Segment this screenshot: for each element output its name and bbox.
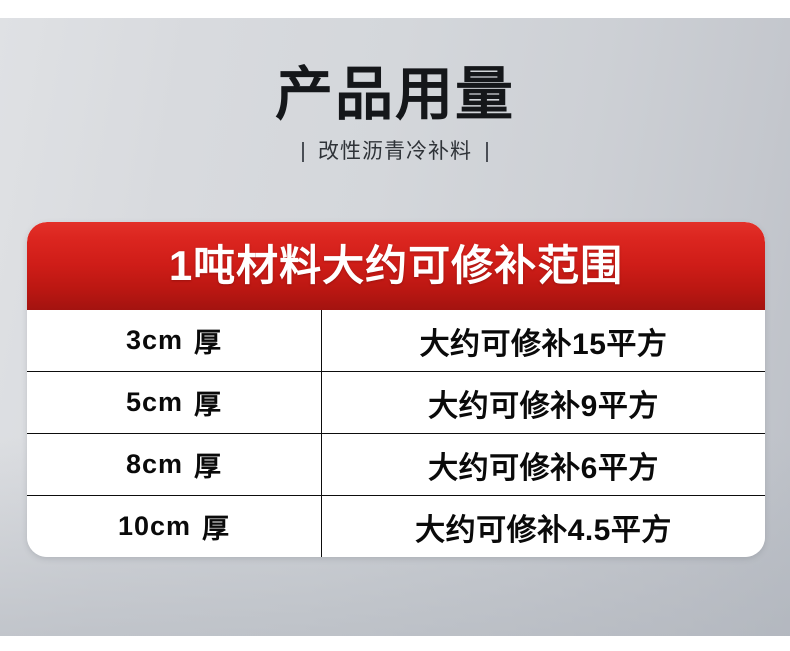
title-block: 产品用量 改性沥青冷补料 [0,62,790,164]
coverage-table: 3cm 厚 大约可修补15平方 5cm 厚 大约可修补9平方 8cm [27,310,765,557]
thickness-value: 10cm [118,511,191,542]
thickness-label: 厚 [194,445,222,484]
thickness-cell: 3cm 厚 [27,310,322,371]
coverage-cell: 大约可修补9平方 [322,372,765,433]
subtitle-row: 改性沥青冷补料 [0,140,790,164]
page-title: 产品用量 [0,62,790,128]
product-usage-infographic: 产品用量 改性沥青冷补料 1吨材料大约可修补范围 3cm 厚 大约可修补15平方 [0,0,790,651]
coverage-cell: 大约可修补4.5平方 [322,496,765,557]
thickness-cell: 8cm 厚 [27,434,322,495]
table-row: 3cm 厚 大约可修补15平方 [27,310,765,372]
table-row: 10cm 厚 大约可修补4.5平方 [27,496,765,557]
thickness-value: 3cm [126,325,183,356]
thickness-value: 8cm [126,449,183,480]
thickness-value: 5cm [126,387,183,418]
thickness-label: 厚 [194,383,222,422]
table-row: 5cm 厚 大约可修补9平方 [27,372,765,434]
coverage-cell: 大约可修补15平方 [322,310,765,371]
thickness-label: 厚 [202,507,230,546]
page-subtitle: 改性沥青冷补料 [318,140,472,164]
table-row: 8cm 厚 大约可修补6平方 [27,434,765,496]
subtitle-left-bar-icon [302,142,304,162]
coverage-table-card: 1吨材料大约可修补范围 3cm 厚 大约可修补15平方 5cm 厚 大约可修补9… [27,222,765,557]
coverage-table-banner-title: 1吨材料大约可修补范围 [169,242,623,290]
thickness-label: 厚 [194,321,222,360]
subtitle-right-bar-icon [486,142,488,162]
thickness-cell: 10cm 厚 [27,496,322,557]
coverage-table-banner: 1吨材料大约可修补范围 [27,222,765,310]
coverage-cell: 大约可修补6平方 [322,434,765,495]
thickness-cell: 5cm 厚 [27,372,322,433]
